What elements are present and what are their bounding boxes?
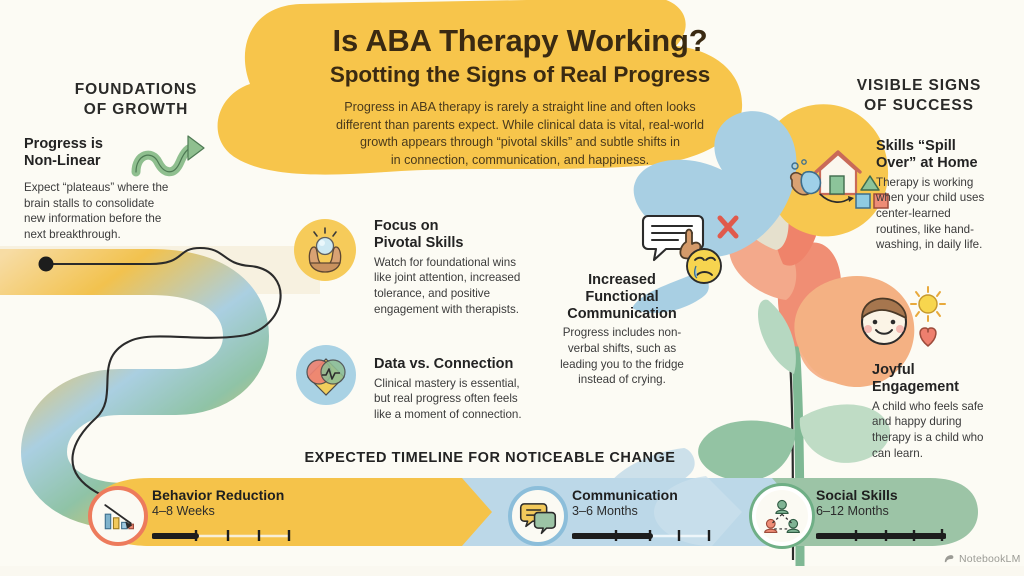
card-progress-non-linear-title: Progress is Non-Linear bbox=[24, 136, 124, 170]
venn-heart-icon bbox=[296, 345, 356, 405]
left-column-heading: FOUNDATIONS OF GROWTH bbox=[38, 80, 234, 120]
header-description: Progress in ABA therapy is rarely a stra… bbox=[272, 99, 768, 171]
people-network-icon bbox=[763, 497, 801, 535]
timeline-ruler-communication bbox=[572, 527, 712, 541]
page-subtitle: Spotting the Signs of Real Progress bbox=[272, 62, 768, 87]
card-focus-pivotal-skills: Focus on Pivotal Skills Watch for founda… bbox=[374, 218, 546, 317]
timeline-ruler-behavior-reduction bbox=[152, 527, 292, 541]
declining-bar-chart-icon bbox=[98, 496, 138, 536]
card-joyful-engagement: Joyful Engagement A child who feels safe… bbox=[872, 362, 1016, 461]
timeline-label-communication: Communication 3–6 Months bbox=[572, 487, 752, 519]
timeline-label-social-skills: Social Skills 6–12 Months bbox=[816, 487, 996, 519]
card-increased-functional-communication: Increased Functional Communication Progr… bbox=[552, 272, 692, 388]
speech-bubbles-icon bbox=[519, 497, 557, 535]
squiggly-arrow-icon bbox=[128, 128, 210, 184]
card-skills-spill-over: Skills “Spill Over” at Home Therapy is w… bbox=[876, 138, 1022, 253]
watermark-label: NotebookLM bbox=[959, 553, 1021, 565]
timeline-label-behavior-reduction: Behavior Reduction 4–8 Weeks bbox=[152, 487, 332, 519]
smiling-child-sun-heart-icon bbox=[848, 284, 956, 356]
page-title: Is ABA Therapy Working? bbox=[272, 24, 768, 57]
card-data-vs-connection: Data vs. Connection Clinical mastery is … bbox=[374, 356, 552, 423]
right-column-heading: VISIBLE SIGNS OF SUCCESS bbox=[824, 76, 1014, 116]
notebooklm-logo-icon bbox=[944, 554, 955, 564]
watermark: NotebookLM bbox=[944, 553, 1021, 565]
house-handwashing-shapes-icon bbox=[786, 140, 890, 216]
timeline-node-communication[interactable] bbox=[508, 486, 568, 546]
infographic-canvas: Is ABA Therapy Working? Spotting the Sig… bbox=[0, 0, 1024, 576]
timeline-node-behavior-reduction[interactable] bbox=[88, 486, 148, 546]
timeline-ruler-social-skills bbox=[816, 527, 946, 541]
timeline-heading: EXPECTED TIMELINE FOR NOTICEABLE CHANGE bbox=[280, 450, 700, 466]
timeline-node-social-skills[interactable] bbox=[752, 486, 812, 546]
header-block: Is ABA Therapy Working? Spotting the Sig… bbox=[272, 24, 768, 170]
hands-holding-light-icon bbox=[294, 219, 356, 281]
card-progress-non-linear-body: Expect “plateaus” where the brain stalls… bbox=[24, 180, 210, 243]
